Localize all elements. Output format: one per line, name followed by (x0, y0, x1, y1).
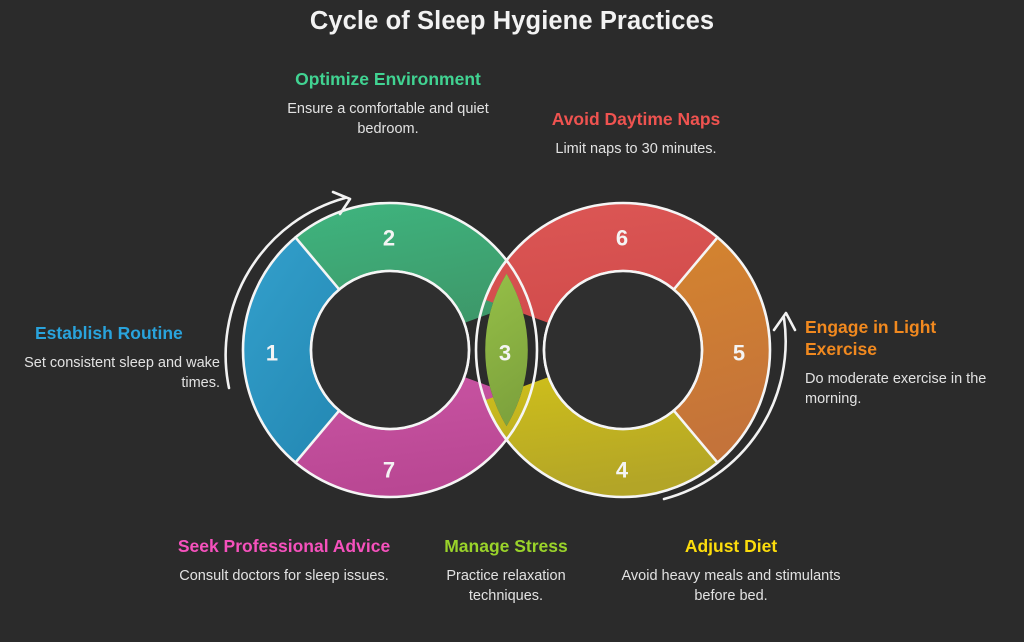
callout-heading-manage-stress: Manage Stress (408, 535, 604, 557)
callout-engage-in-light-exercise: Engage in Light Exercise Do moderate exe… (805, 316, 1013, 409)
callout-description-seek-professional-advice: Consult doctors for sleep issues. (170, 566, 398, 586)
callout-description-adjust-diet: Avoid heavy meals and stimulants before … (620, 566, 842, 606)
callout-description-avoid-daytime-naps: Limit naps to 30 minutes. (518, 139, 754, 159)
segment-number-1: 1 (266, 341, 278, 366)
callout-heading-establish-routine: Establish Routine (8, 322, 220, 344)
segment-number-5: 5 (733, 341, 745, 366)
callout-adjust-diet: Adjust Diet Avoid heavy meals and stimul… (620, 535, 842, 606)
segment-number-4: 4 (616, 458, 629, 483)
callout-optimize-environment: Optimize Environment Ensure a comfortabl… (283, 68, 493, 139)
callout-heading-optimize-environment: Optimize Environment (283, 68, 493, 90)
callout-seek-professional-advice: Seek Professional Advice Consult doctors… (170, 535, 398, 586)
callout-heading-seek-professional-advice: Seek Professional Advice (170, 535, 398, 557)
infographic-canvas: Cycle of Sleep Hygiene Practices (0, 0, 1024, 642)
callout-description-engage-in-light-exercise: Do moderate exercise in the morning. (805, 369, 1013, 409)
left-ring-hole (312, 272, 468, 428)
callout-establish-routine: Establish Routine Set consistent sleep a… (8, 322, 220, 393)
callout-heading-adjust-diet: Adjust Diet (620, 535, 842, 557)
callout-manage-stress: Manage Stress Practice relaxation techni… (408, 535, 604, 606)
callout-heading-engage-in-light-exercise: Engage in Light Exercise (805, 316, 1013, 360)
callout-description-establish-routine: Set consistent sleep and wake times. (8, 353, 220, 393)
callout-description-manage-stress: Practice relaxation techniques. (408, 566, 604, 606)
segment-number-7: 7 (383, 458, 395, 483)
segment-number-2: 2 (383, 226, 395, 251)
segment-number-6: 6 (616, 226, 628, 251)
callout-avoid-daytime-naps: Avoid Daytime Naps Limit naps to 30 minu… (518, 108, 754, 159)
callout-heading-avoid-daytime-naps: Avoid Daytime Naps (518, 108, 754, 130)
right-ring-hole (545, 272, 701, 428)
callout-description-optimize-environment: Ensure a comfortable and quiet bedroom. (283, 99, 493, 139)
segment-number-3: 3 (499, 341, 511, 366)
